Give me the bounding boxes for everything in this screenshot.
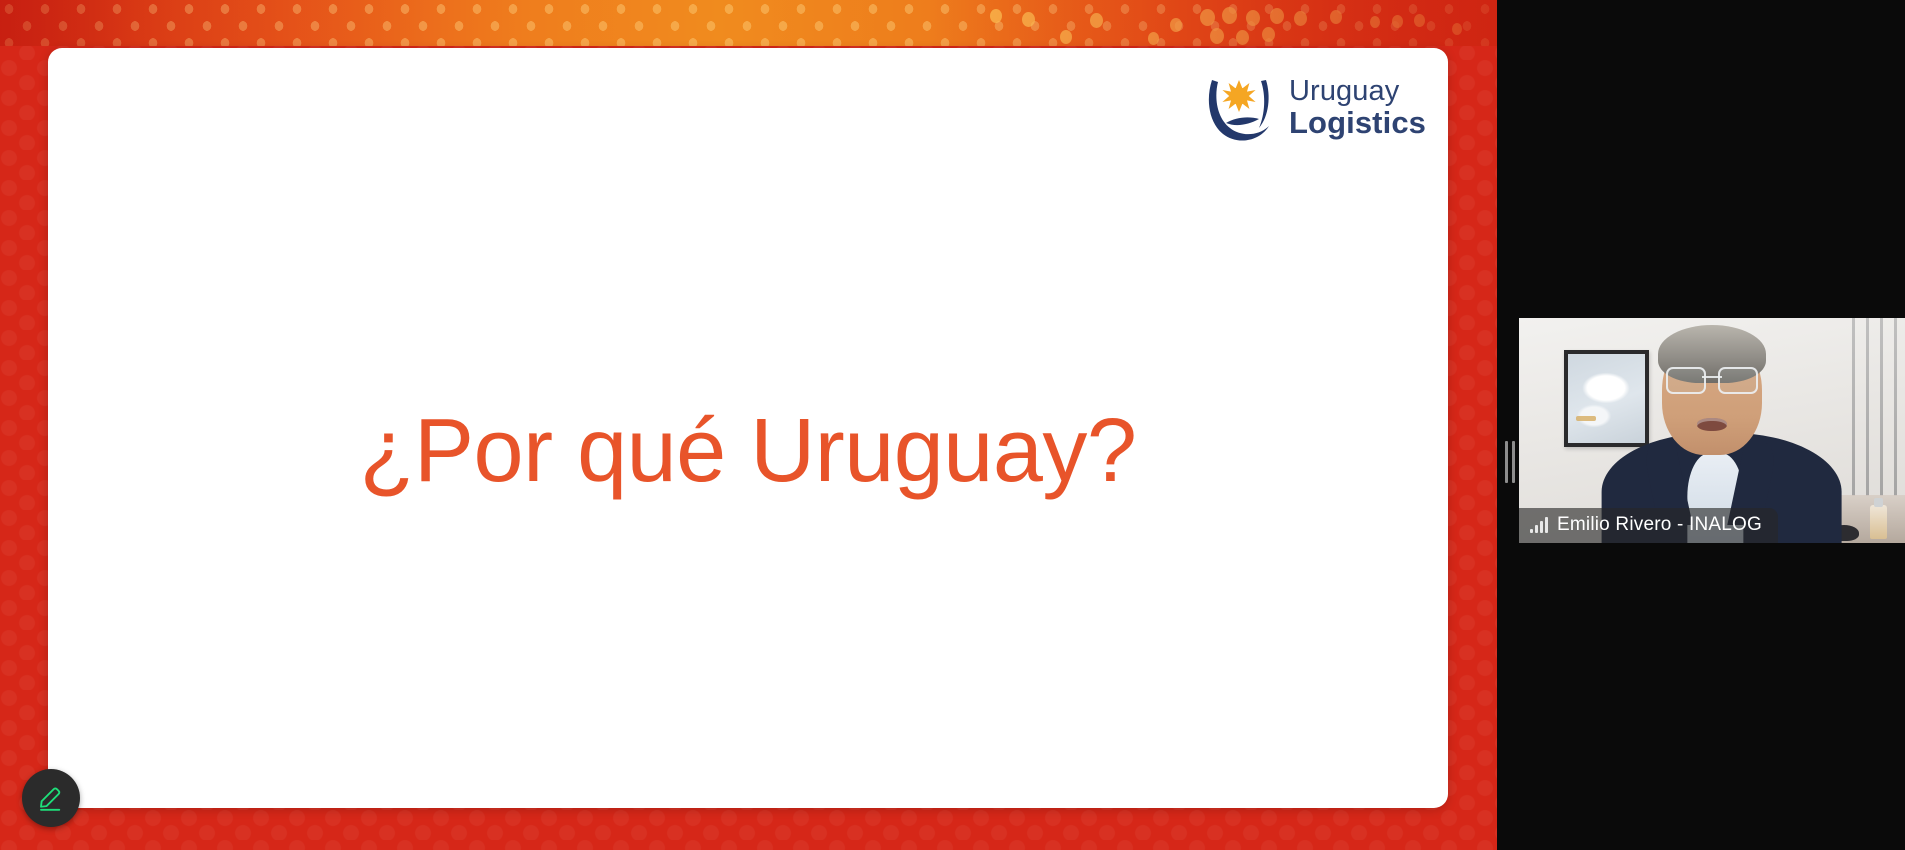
logo-wordmark: Uruguay Logistics (1289, 76, 1426, 140)
participant-video-tile[interactable]: Emilio Rivero - INALOG (1519, 318, 1905, 543)
participant-name-label: Emilio Rivero - INALOG (1519, 508, 1778, 543)
mouth (1697, 418, 1727, 431)
screen-share-viewer: Uruguay Logistics ¿Por qué Uruguay? (0, 0, 1905, 850)
slide-card: Uruguay Logistics ¿Por qué Uruguay? (48, 48, 1448, 808)
drag-handle-bar (1505, 441, 1508, 483)
slide-top-decorative-band (0, 0, 1497, 46)
panel-drag-handle[interactable] (1504, 441, 1516, 483)
uruguay-logistics-logo: Uruguay Logistics (1203, 70, 1426, 146)
pencil-icon (36, 783, 66, 813)
logo-line-1: Uruguay (1289, 76, 1426, 107)
band-dot-pattern (0, 0, 1497, 46)
logo-line-2: Logistics (1289, 107, 1426, 140)
signal-bars-icon (1530, 517, 1548, 533)
eyeglasses (1666, 367, 1758, 391)
shared-slide-region: Uruguay Logistics ¿Por qué Uruguay? (0, 0, 1497, 850)
participant-name: Emilio Rivero - INALOG (1557, 514, 1762, 536)
annotate-button[interactable] (22, 769, 80, 827)
uruguay-logistics-sun-crescent-logo (1203, 70, 1275, 146)
slide-title: ¿Por qué Uruguay? (48, 400, 1448, 503)
drag-handle-bar (1512, 441, 1515, 483)
